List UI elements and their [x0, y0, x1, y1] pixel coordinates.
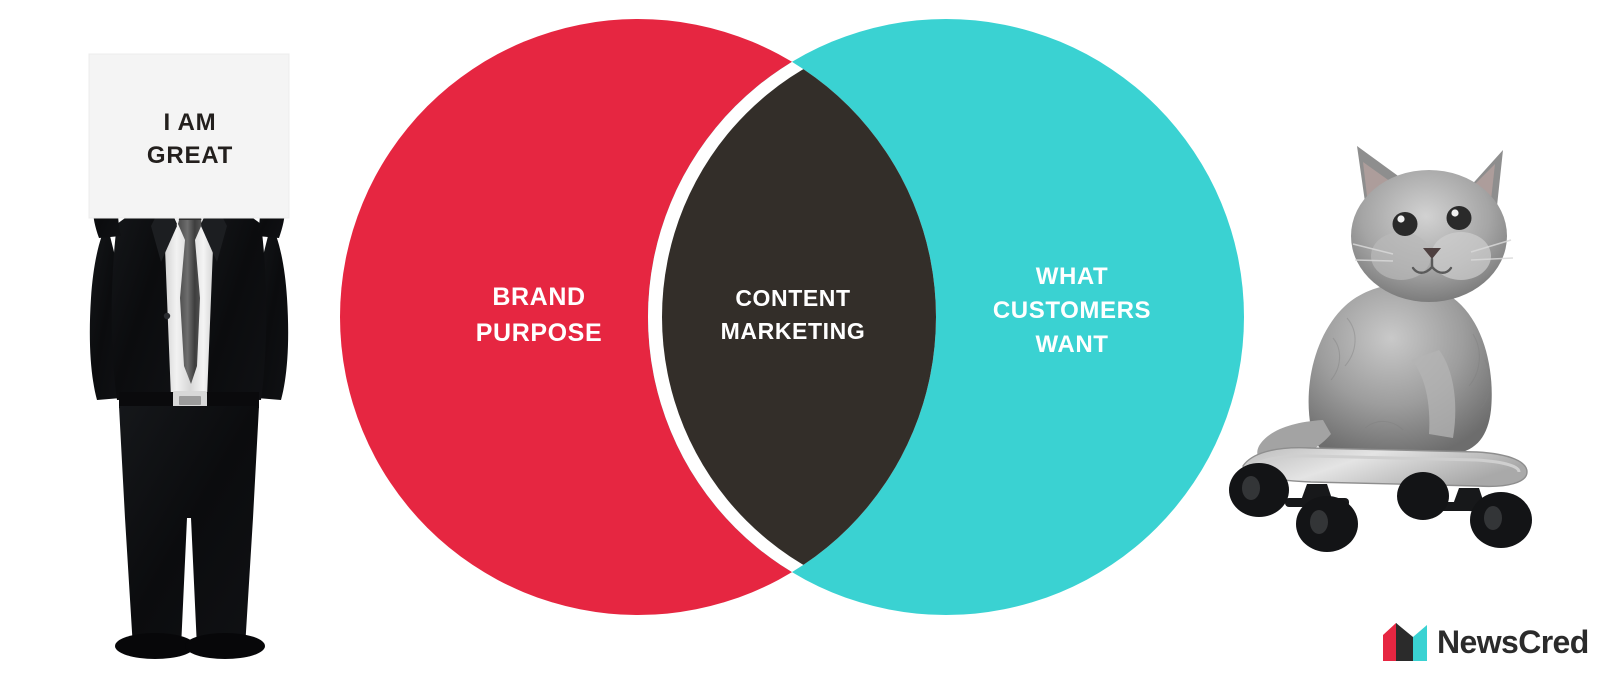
businessman-photo: I AM GREAT — [55, 48, 323, 660]
newscred-wordmark: NewsCred — [1437, 626, 1589, 658]
venn-diagram: BRAND PURPOSE CONTENT MARKETING WHAT CUS… — [330, 8, 1260, 620]
newscred-mark-icon — [1382, 623, 1428, 661]
slide-canvas: I AM GREAT — [0, 0, 1600, 681]
kitten-skateboard-photo — [1215, 128, 1545, 558]
newscred-logo[interactable]: NewsCred — [1382, 618, 1589, 666]
